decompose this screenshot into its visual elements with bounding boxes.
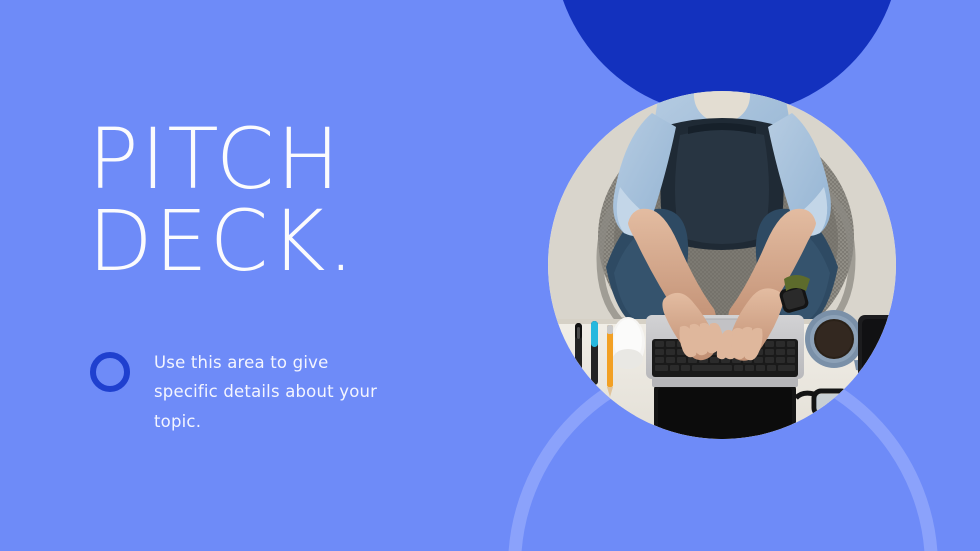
page-title: PITCH DECK. xyxy=(88,118,508,283)
pitch-deck-slide: PITCH DECK. Use this area to give specif… xyxy=(0,0,980,551)
desk-photo-circle xyxy=(548,91,896,439)
subtitle-text: Use this area to give specific details a… xyxy=(154,348,394,436)
desk-photo-illustration xyxy=(548,91,896,439)
subtitle-row: Use this area to give specific details a… xyxy=(90,348,510,436)
title-block: PITCH DECK. xyxy=(88,118,508,283)
bullet-ring-icon xyxy=(90,352,130,392)
